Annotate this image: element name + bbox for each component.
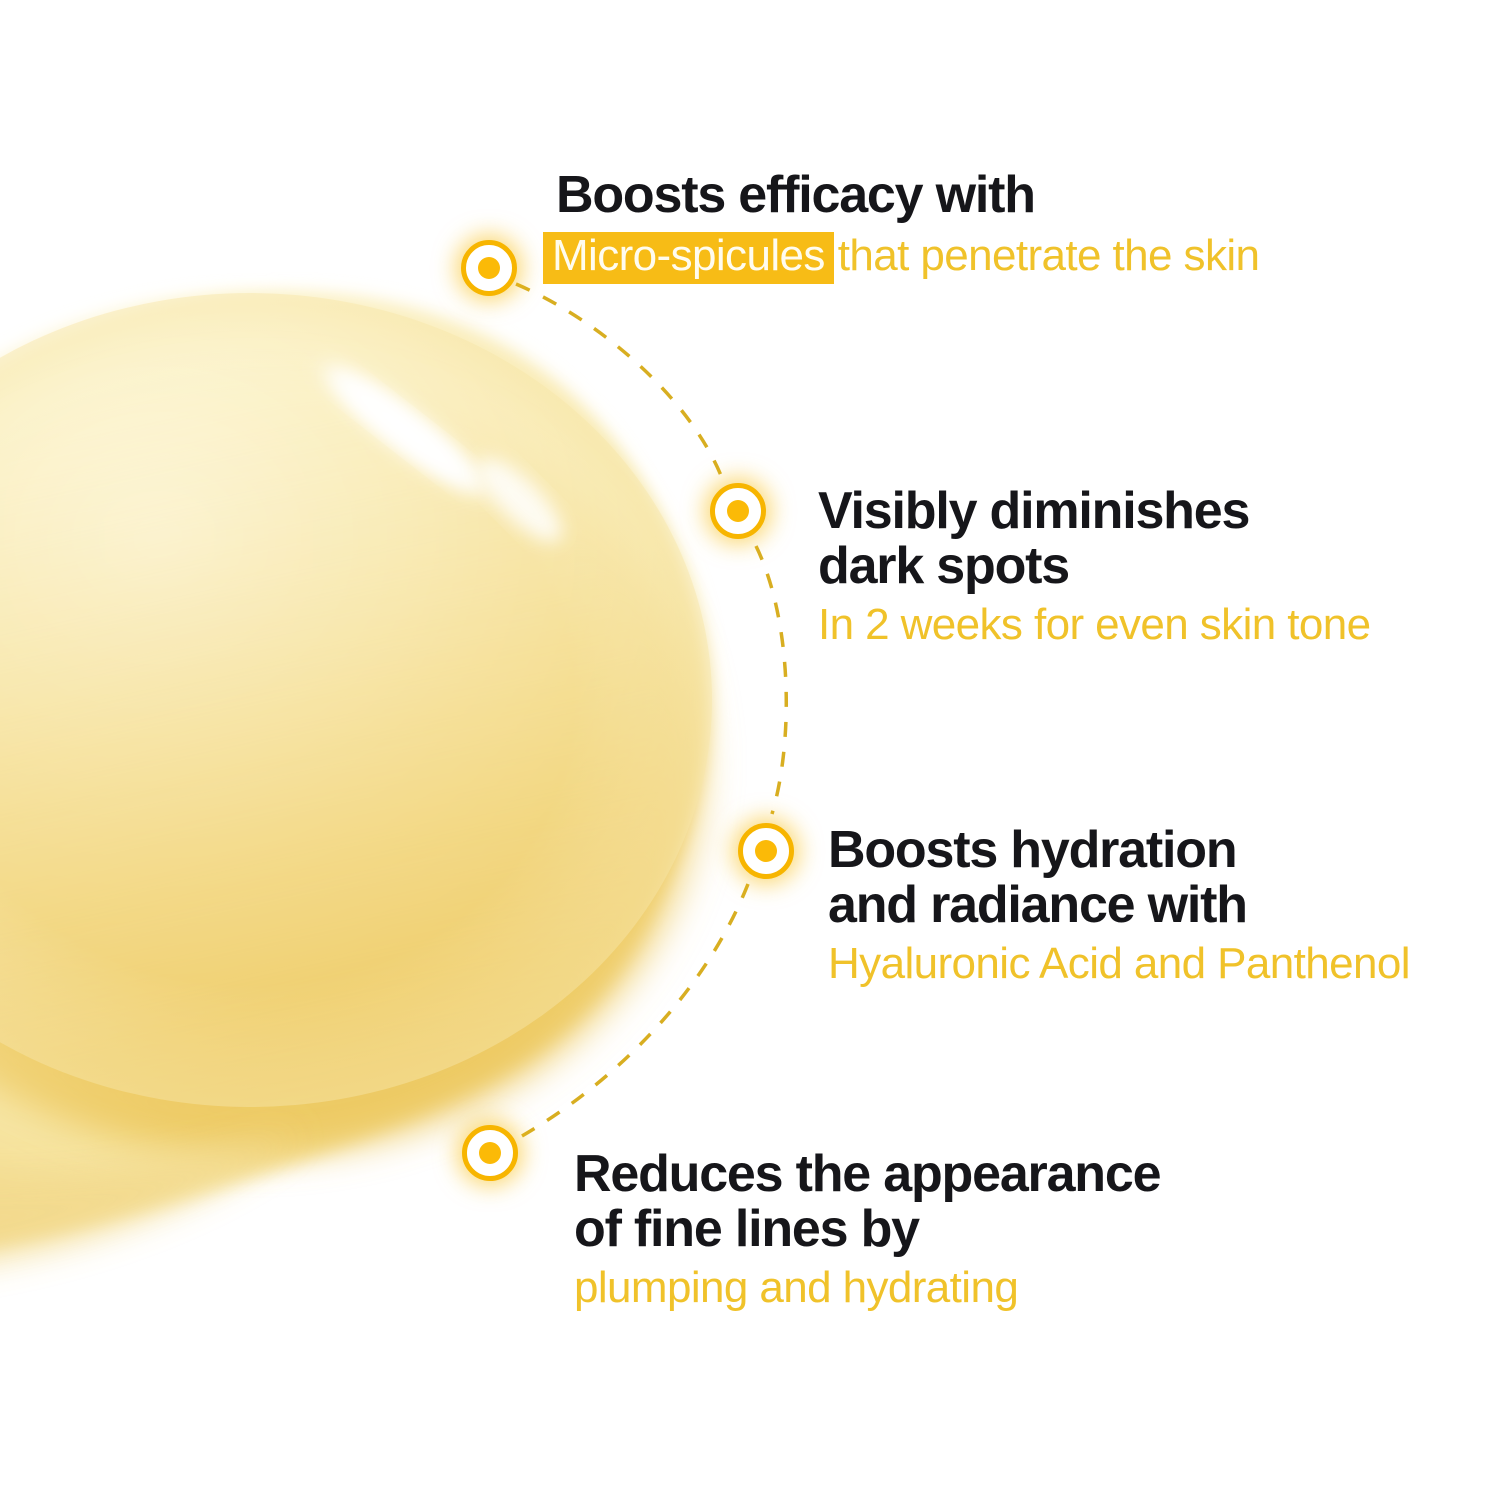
callout-headline-line-2: dark spots — [818, 539, 1370, 594]
specular-highlight-secondary — [466, 446, 573, 553]
bullet-core-icon — [727, 500, 749, 522]
bullet-marker-fine-lines[interactable] — [462, 1125, 518, 1181]
callout-headline-line-2: and radiance with — [828, 878, 1410, 933]
callout-subtext: In 2 weeks for even skin tone — [818, 600, 1370, 649]
specular-highlight — [296, 337, 514, 523]
connector-segment-1 — [516, 284, 722, 478]
blob-tail — [0, 1130, 300, 1272]
callout-hydration-radiance: Boosts hydration and radiance with Hyalu… — [828, 823, 1410, 988]
bullet-core-icon — [478, 257, 500, 279]
callout-headline-line-1: Visibly diminishes — [818, 484, 1370, 539]
callout-dark-spots: Visibly diminishes dark spots In 2 weeks… — [818, 484, 1370, 649]
bullet-core-icon — [479, 1142, 501, 1164]
highlight-suffix-text: that penetrate the skin — [838, 231, 1260, 280]
bullet-core-icon — [755, 840, 777, 862]
blob-body — [0, 294, 692, 1255]
product-benefits-infographic: Boosts efficacy with Micro-spiculesthat … — [0, 0, 1500, 1500]
callout-headline-line-1: Boosts hydration — [828, 823, 1410, 878]
connector-segment-3 — [522, 884, 748, 1136]
blob-shading — [0, 365, 705, 1155]
highlight-term: Micro-spicules — [543, 232, 834, 284]
bullet-marker-hydration[interactable] — [738, 823, 794, 879]
callout-subtext: Hyaluronic Acid and Panthenol — [828, 939, 1410, 988]
callout-micro-spicules: Boosts efficacy with Micro-spiculesthat … — [543, 168, 1259, 284]
bullet-marker-dark-spots[interactable] — [710, 483, 766, 539]
callout-subtext: plumping and hydrating — [574, 1263, 1160, 1312]
callout-subline-row: Micro-spiculesthat penetrate the skin — [543, 231, 1259, 284]
connector-segment-2 — [756, 546, 786, 814]
callout-headline: Boosts efficacy with — [543, 168, 1259, 223]
blob-lobe — [0, 295, 710, 1105]
bullet-marker-micro-spicules[interactable] — [461, 240, 517, 296]
callout-headline-line-2: of fine lines by — [574, 1202, 1160, 1257]
callout-fine-lines: Reduces the appearance of fine lines by … — [574, 1147, 1160, 1312]
blob-rim-glow — [0, 293, 712, 1107]
callout-headline-line-1: Reduces the appearance — [574, 1147, 1160, 1202]
